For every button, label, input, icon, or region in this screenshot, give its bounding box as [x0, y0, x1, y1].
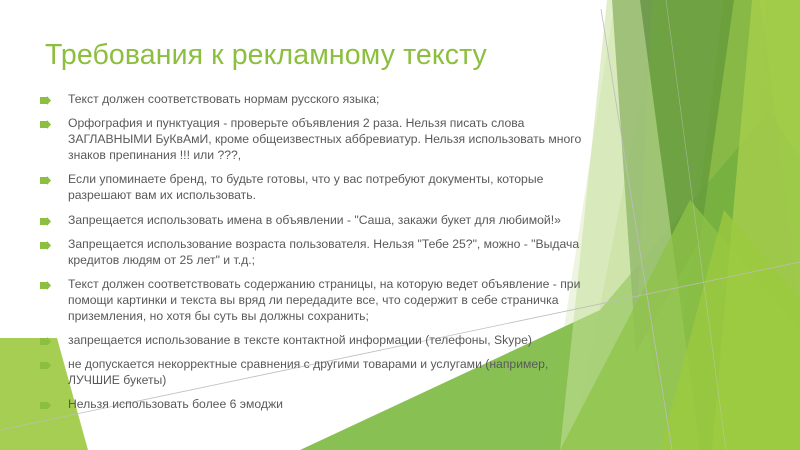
list-item-text: Текст должен соответствовать содержанию …: [68, 276, 600, 324]
decor-shape-far-right-green: [740, 0, 800, 450]
decor-shape-bottom-vivid: [660, 210, 800, 450]
list-item: Если упоминаете бренд, то будьте готовы,…: [40, 171, 600, 203]
list-item-text: запрещается использование в тексте конта…: [68, 332, 600, 348]
list-item: не допускается некорректные сравнения с …: [40, 356, 600, 388]
arrow-right-bullet-icon: [40, 115, 68, 129]
list-item-text: не допускается некорректные сравнения с …: [68, 356, 600, 388]
decor-shape-bright-band: [668, 0, 800, 450]
decor-hairline-steep: [601, 9, 672, 450]
arrow-right-bullet-icon: [40, 276, 68, 290]
list-item-text: Если упоминаете бренд, то будьте готовы,…: [68, 171, 600, 203]
decor-shape-vivid-strip: [712, 0, 800, 450]
arrow-right-bullet-icon: [40, 212, 68, 226]
arrow-right-bullet-icon: [40, 236, 68, 250]
list-item-text: Запрещается использование возраста польз…: [68, 236, 600, 268]
list-item: Орфография и пунктуация - проверьте объя…: [40, 115, 600, 163]
list-item: Текст должен соответствовать содержанию …: [40, 276, 600, 324]
list-item: Нельзя использовать более 6 эмоджи: [40, 396, 600, 412]
arrow-right-bullet-icon: [40, 332, 68, 346]
arrow-right-bullet-icon: [40, 396, 68, 410]
arrow-right-bullet-icon: [40, 91, 68, 105]
decor-shape-medium-blade: [638, 0, 800, 450]
list-item-text: Текст должен соответствовать нормам русс…: [68, 91, 600, 107]
bullet-list: Текст должен соответствовать нормам русс…: [40, 91, 600, 421]
list-item-text: Нельзя использовать более 6 эмоджи: [68, 396, 600, 412]
decor-hairline-inner: [666, 0, 726, 450]
page-title: Требования к рекламному тексту: [45, 39, 565, 72]
presentation-slide: Требования к рекламному тексту Текст дол…: [0, 0, 800, 450]
list-item: запрещается использование в тексте конта…: [40, 332, 600, 348]
list-item: Текст должен соответствовать нормам русс…: [40, 91, 600, 107]
list-item: Запрещается использовать имена в объявле…: [40, 212, 600, 228]
list-item-text: Орфография и пунктуация - проверьте объя…: [68, 115, 600, 163]
decor-shape-pale-triangle: [572, 0, 800, 450]
arrow-right-bullet-icon: [40, 356, 68, 370]
list-item-text: Запрещается использовать имена в объявле…: [68, 212, 600, 228]
decor-shape-dark-blade: [612, 0, 734, 352]
list-item: Запрещается использование возраста польз…: [40, 236, 600, 268]
arrow-right-bullet-icon: [40, 171, 68, 185]
